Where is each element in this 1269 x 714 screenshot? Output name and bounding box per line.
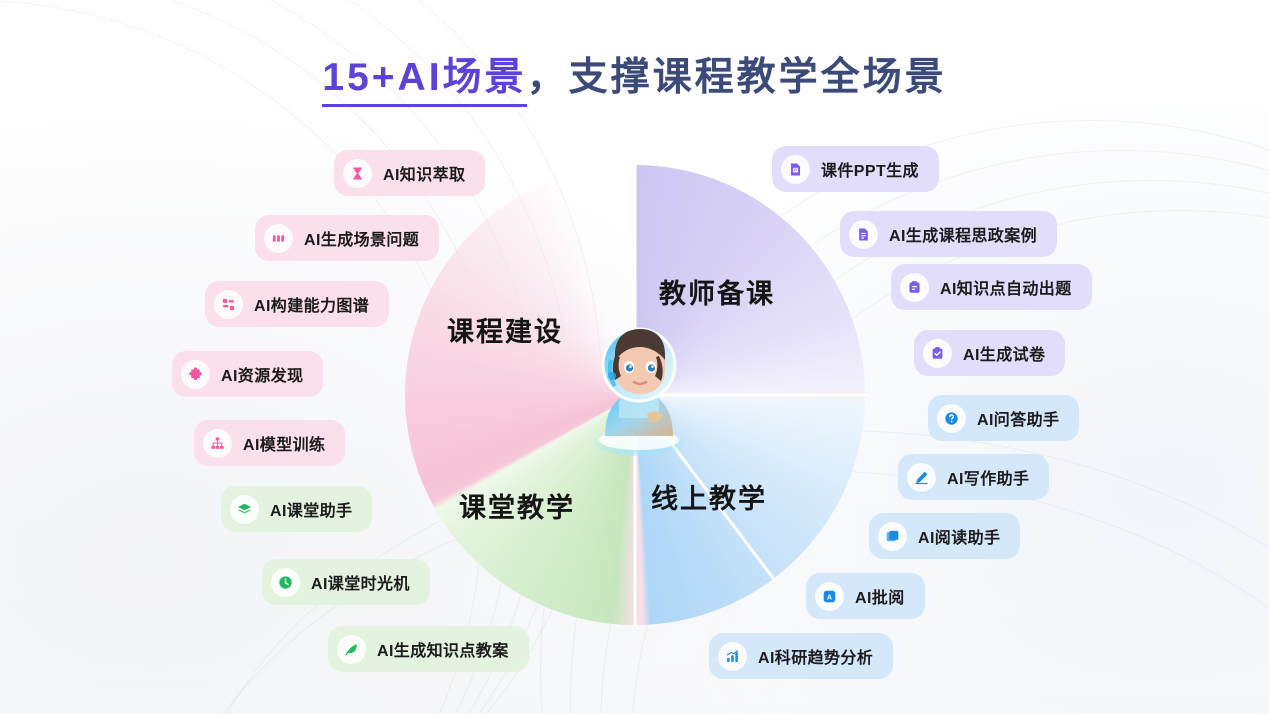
leaf-icon	[337, 635, 366, 664]
svg-text:P: P	[794, 167, 797, 172]
puzzle-icon	[181, 360, 210, 389]
checklist-icon	[923, 339, 952, 368]
scenario-pill-ai-classroom-time-machine[interactable]: AI课堂时光机	[262, 559, 430, 605]
pencil-icon	[907, 463, 936, 492]
scenario-pill-ai-auto-question-from-knowledge-points[interactable]: AI知识点自动出题	[891, 264, 1092, 310]
svg-text:A: A	[827, 593, 832, 601]
scenario-pill-ai-reading-assistant[interactable]: AI阅读助手	[869, 513, 1020, 559]
scenario-pill-ai-writing-assistant[interactable]: AI写作助手	[898, 454, 1049, 500]
scenario-pill-ai-research-trend-analysis[interactable]: AI科研趋势分析	[709, 633, 893, 679]
scenario-pill-label: AI批阅	[855, 584, 905, 608]
hierarchy-icon	[203, 429, 232, 458]
scenario-pill-label: AI知识点自动出题	[940, 275, 1072, 299]
scenario-pill-ai-grading[interactable]: A AI批阅	[806, 573, 925, 619]
scenario-pill-label: AI资源发现	[221, 362, 303, 386]
pie-label-teacher-preparation: 教师备课	[659, 272, 775, 311]
page-title-rest: ，支撑课程教学全场景	[527, 56, 947, 99]
ai-badge-icon: A	[815, 582, 844, 611]
bars-icon	[264, 224, 293, 253]
scenario-pill-label: AI问答助手	[977, 406, 1059, 430]
page-title-accent: 15+AI场景	[322, 56, 526, 107]
scenario-pill-ai-ideological-case-generation[interactable]: AI生成课程思政案例	[840, 211, 1057, 257]
question-icon	[937, 404, 966, 433]
chart-icon	[718, 642, 747, 671]
scenario-pill-courseware-ppt-generation[interactable]: P 课件PPT生成	[772, 146, 939, 192]
pie-label-online-teaching: 线上教学	[651, 477, 767, 516]
layers-icon	[230, 495, 259, 524]
scenario-pill-ai-classroom-assistant[interactable]: AI课堂助手	[221, 486, 372, 532]
book-window-icon	[878, 522, 907, 551]
blocks-icon	[214, 290, 243, 319]
scenario-pill-label: AI知识萃取	[383, 161, 465, 185]
scenario-pill-ai-exam-paper-generation[interactable]: AI生成试卷	[914, 330, 1065, 376]
scenario-pill-label: AI阅读助手	[918, 524, 1000, 548]
hourglass-icon	[343, 159, 372, 188]
scenario-pill-ai-competency-graph[interactable]: AI构建能力图谱	[205, 281, 389, 327]
pie-label-classroom-teaching: 课堂教学	[459, 486, 575, 525]
ppt-file-icon: P	[781, 155, 810, 184]
scenario-pill-ai-resource-discovery[interactable]: AI资源发现	[172, 351, 323, 397]
scenario-pill-label: AI写作助手	[947, 465, 1029, 489]
scenario-pill-label: AI生成场景问题	[304, 226, 419, 250]
ai-avatar	[585, 318, 693, 458]
scenario-pill-label: AI生成课程思政案例	[889, 222, 1037, 246]
scenario-pill-ai-qa-assistant[interactable]: AI问答助手	[928, 395, 1079, 441]
scenario-pill-label: AI生成知识点教案	[377, 637, 509, 661]
scenario-pill-label: 课件PPT生成	[821, 157, 919, 181]
scenario-pill-ai-knowledge-extraction[interactable]: AI知识萃取	[334, 150, 485, 196]
slide-canvas: 15+AI场景，支撑课程教学全场景 课程建设 教师备课 线上教学 课堂教学	[0, 0, 1269, 714]
clock-icon	[271, 568, 300, 597]
scenario-pill-ai-scenario-question-generation[interactable]: AI生成场景问题	[255, 215, 439, 261]
page-title: 15+AI场景，支撑课程教学全场景	[0, 46, 1269, 102]
scenario-pill-label: AI构建能力图谱	[254, 292, 369, 316]
clipboard-icon	[900, 273, 929, 302]
scenario-pill-ai-lesson-plan-generation[interactable]: AI生成知识点教案	[328, 626, 529, 672]
scenario-pill-label: AI课堂助手	[270, 497, 352, 521]
document-icon	[849, 220, 878, 249]
scenario-pill-ai-model-training[interactable]: AI模型训练	[194, 420, 345, 466]
scenario-pill-label: AI科研趋势分析	[758, 644, 873, 668]
pie-label-course-construction: 课程建设	[447, 310, 563, 349]
scenario-pill-label: AI课堂时光机	[311, 570, 410, 594]
scenario-pill-label: AI模型训练	[243, 431, 325, 455]
scenario-pill-label: AI生成试卷	[963, 341, 1045, 365]
